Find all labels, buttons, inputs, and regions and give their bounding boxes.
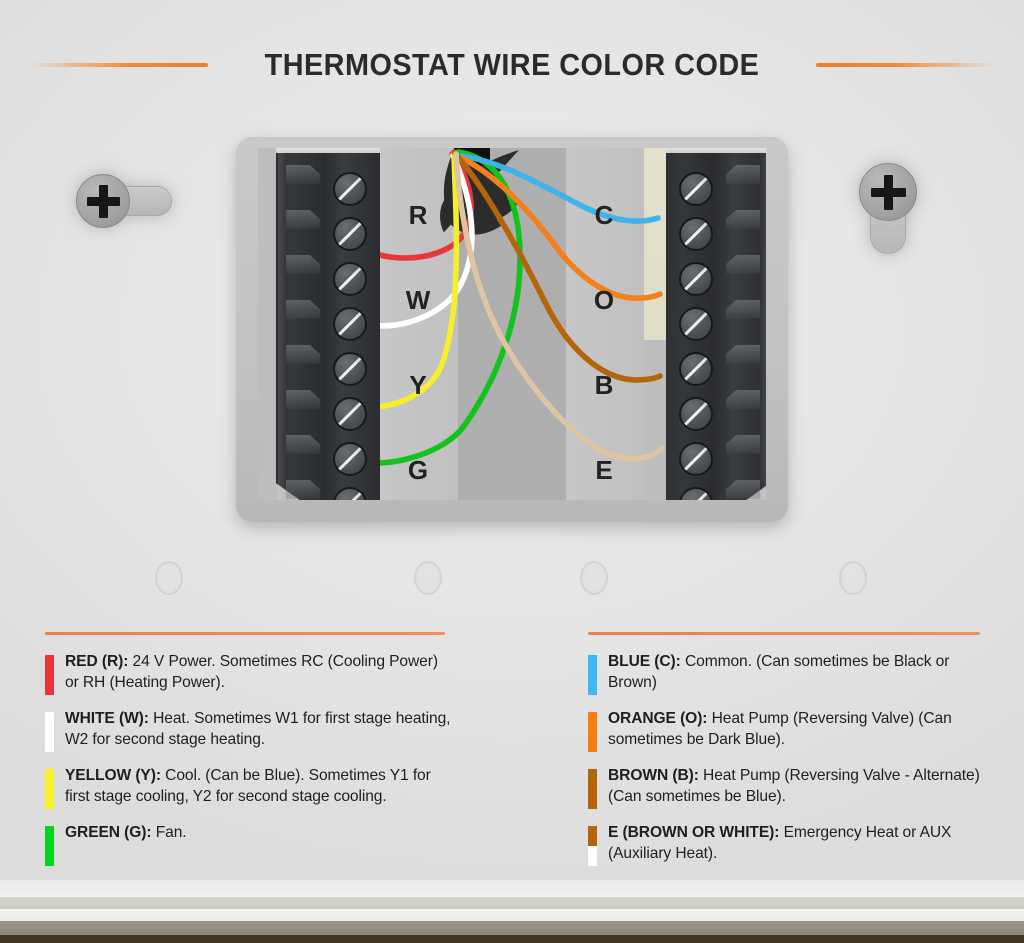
swatch-segment: [45, 826, 54, 866]
terminal-label-b: B: [584, 370, 624, 401]
swatch-segment: [45, 655, 54, 695]
title-rule-right: [816, 63, 996, 67]
legend-code: YELLOW (Y):: [65, 767, 161, 784]
swatch-segment: [588, 655, 597, 695]
thermostat-backplate: R W Y G C O B E: [236, 137, 788, 522]
terminal-block-left-bevel: [278, 148, 287, 500]
legend-divider-right: [588, 632, 980, 635]
legend-item: E (BROWN OR WHITE): Emergency Heat or AU…: [588, 823, 998, 866]
page-title: THERMOSTAT WIRE COLOR CODE: [265, 47, 760, 83]
legend-item: BLUE (C): Common. (Can sometimes be Blac…: [588, 652, 998, 695]
legend-text: ORANGE (O): Heat Pump (Reversing Valve) …: [608, 709, 998, 750]
terminal-block-left-cap: [276, 148, 380, 153]
terminal-screw[interactable]: [679, 397, 713, 431]
legend-item: GREEN (G): Fan.: [45, 823, 455, 866]
terminal-block-left[interactable]: [276, 148, 380, 500]
legend-color-swatch: [588, 769, 597, 809]
legend-text: RED (R): 24 V Power. Sometimes RC (Cooli…: [65, 652, 455, 693]
legend-text: GREEN (G): Fan.: [65, 823, 187, 844]
terminal-label-y: Y: [398, 370, 438, 401]
mount-screw-left: [72, 170, 180, 232]
swatch-segment: [588, 712, 597, 752]
legend-item: ORANGE (O): Heat Pump (Reversing Valve) …: [588, 709, 998, 752]
page-title-row: THERMOSTAT WIRE COLOR CODE: [0, 42, 1024, 88]
legend-text: E (BROWN OR WHITE): Emergency Heat or AU…: [608, 823, 998, 864]
swatch-segment: [45, 712, 54, 752]
terminal-screw[interactable]: [679, 442, 713, 476]
legend-code: GREEN (G):: [65, 824, 152, 841]
legend-code: WHITE (W):: [65, 710, 149, 727]
plus-horizontal: [871, 188, 906, 197]
legend-code: E (BROWN OR WHITE):: [608, 824, 779, 841]
terminal-label-w: W: [398, 285, 438, 316]
terminal-screw[interactable]: [679, 217, 713, 251]
terminal-screw[interactable]: [333, 352, 367, 386]
mount-hole: [580, 561, 608, 595]
mount-screw-right: [856, 160, 920, 260]
swatch-segment: [588, 826, 597, 846]
legend-text: BLUE (C): Common. (Can sometimes be Blac…: [608, 652, 998, 693]
legend-color-swatch: [45, 826, 54, 866]
terminal-screw[interactable]: [333, 217, 367, 251]
terminal-label-o: O: [584, 285, 624, 316]
legend-item: RED (R): 24 V Power. Sometimes RC (Cooli…: [45, 652, 455, 695]
legend-text: BROWN (B): Heat Pump (Reversing Valve - …: [608, 766, 998, 807]
terminal-screw[interactable]: [333, 397, 367, 431]
terminal-label-r: R: [398, 200, 438, 231]
baseboard-band-white: [0, 909, 1024, 921]
phillips-screw-icon: [859, 163, 917, 221]
terminal-block-right-bevel: [759, 148, 766, 500]
baseboard: [0, 880, 1024, 943]
terminal-block-right[interactable]: [666, 148, 766, 500]
legend-color-swatch: [588, 655, 597, 695]
terminal-block-right-cap: [666, 148, 766, 153]
legend-color-swatch: [588, 826, 597, 866]
legend-column-left: RED (R): 24 V Power. Sometimes RC (Cooli…: [45, 652, 455, 880]
terminal-screw[interactable]: [333, 172, 367, 206]
terminal-screw[interactable]: [333, 442, 367, 476]
terminal-screw[interactable]: [679, 262, 713, 296]
mount-hole: [839, 561, 867, 595]
terminal-screw[interactable]: [679, 307, 713, 341]
thermostat-inner-panel: R W Y G C O B E: [258, 148, 766, 500]
baseboard-band-green: [0, 897, 1024, 909]
legend-item: WHITE (W): Heat. Sometimes W1 for first …: [45, 709, 455, 752]
legend-code: BROWN (B):: [608, 767, 699, 784]
terminal-label-g: G: [398, 455, 438, 486]
terminal-label-e: E: [584, 455, 624, 486]
floor-band: [0, 935, 1024, 943]
legend-color-swatch: [588, 712, 597, 752]
baseboard-band-top: [0, 880, 1024, 897]
legend-column-right: BLUE (C): Common. (Can sometimes be Blac…: [588, 652, 998, 880]
terminal-screw[interactable]: [333, 262, 367, 296]
phillips-screw-icon: [76, 174, 130, 228]
legend-code: ORANGE (O):: [608, 710, 707, 727]
terminal-label-c: C: [584, 200, 624, 231]
legend-text: WHITE (W): Heat. Sometimes W1 for first …: [65, 709, 455, 750]
legend-description: Fan.: [152, 824, 187, 841]
legend-color-swatch: [45, 712, 54, 752]
terminal-screw[interactable]: [333, 307, 367, 341]
legend-color-swatch: [45, 655, 54, 695]
swatch-segment: [588, 846, 597, 866]
swatch-segment: [588, 769, 597, 809]
legend-item: BROWN (B): Heat Pump (Reversing Valve - …: [588, 766, 998, 809]
mount-hole: [155, 561, 183, 595]
terminal-screw[interactable]: [679, 172, 713, 206]
title-rule-left: [28, 63, 208, 67]
legend-color-swatch: [45, 769, 54, 809]
terminal-screw[interactable]: [679, 352, 713, 386]
legend-item: YELLOW (Y): Cool. (Can be Blue). Sometim…: [45, 766, 455, 809]
legend-divider-left: [45, 632, 445, 635]
swatch-segment: [45, 769, 54, 809]
mount-hole: [414, 561, 442, 595]
legend-text: YELLOW (Y): Cool. (Can be Blue). Sometim…: [65, 766, 455, 807]
legend-code: BLUE (C):: [608, 653, 681, 670]
baseboard-band-taupe: [0, 921, 1024, 935]
plus-horizontal: [87, 197, 120, 206]
legend-code: RED (R):: [65, 653, 128, 670]
